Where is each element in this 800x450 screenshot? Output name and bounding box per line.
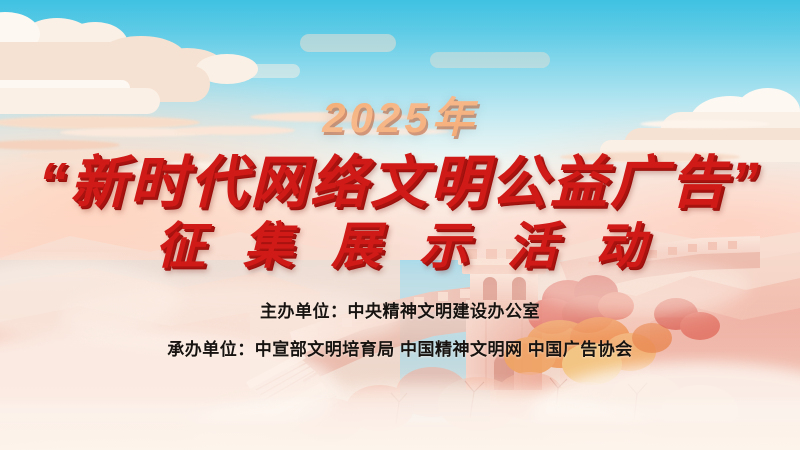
poster-canvas: 2025年 “新时代网络文明公益广告” 征 集 展 示 活 动 主办单位：中央精… (0, 0, 800, 450)
organizer-line: 主办单位：中央精神文明建设办公室 (0, 297, 800, 322)
campaign-title-line2: 征 集 展 示 活 动 (0, 206, 800, 278)
co-organizer-line: 承办单位：中宣部文明培育局 中国精神文明网 中国广告协会 (0, 335, 800, 360)
year-heading: 2025年 (0, 84, 800, 145)
